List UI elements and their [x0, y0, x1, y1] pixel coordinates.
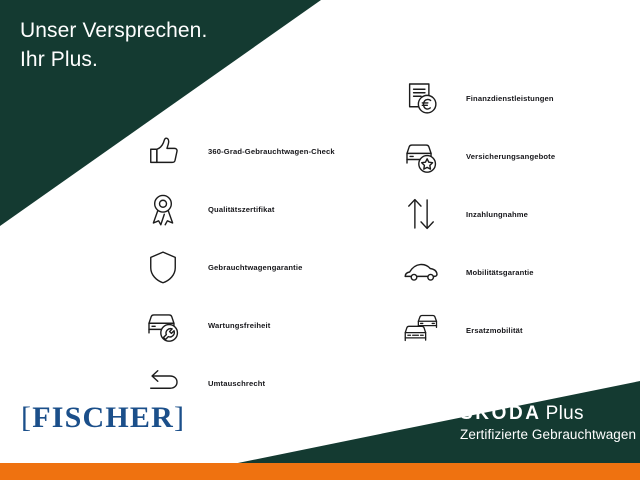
car-side-icon [398, 249, 444, 295]
feature-item-qualitaetszertifikat: Qualitätszertifikat [140, 186, 335, 232]
promo-banner: Unser Versprechen. Ihr Plus. 360-Grad-Ge… [0, 0, 640, 480]
logo-dealer-name: FISCHER [32, 401, 174, 434]
feature-label: Mobilitätsgarantie [444, 268, 534, 277]
two-cars-icon [398, 307, 444, 353]
feature-item-versicherungsangebote: Versicherungsangebote [398, 133, 555, 179]
dealer-logo-fischer: [FISCHER] [21, 401, 185, 435]
document-euro-icon [398, 75, 444, 121]
award-rosette-icon [140, 186, 186, 232]
feature-list-right: Finanzdienstleistungen Versicherungsange… [398, 75, 555, 359]
brand-logo-skoda-plus: ŠKODAPlus Zertifizierte Gebrauchtwagen [460, 404, 636, 442]
feature-label: Inzahlungnahme [444, 210, 528, 219]
brand-subtitle: Zertifizierte Gebrauchtwagen [460, 428, 636, 442]
feature-item-umtauschrecht: Umtauschrecht [140, 360, 335, 406]
feature-label: Finanzdienstleistungen [444, 94, 554, 103]
feature-item-gebrauchtwagengarantie: Gebrauchtwagengarantie [140, 244, 335, 290]
feature-item-inzahlungnahme: Inzahlungnahme [398, 191, 555, 237]
brand-mark-skoda: ŠKODA [460, 403, 542, 424]
feature-item-finanzdienstleistungen: Finanzdienstleistungen [398, 75, 555, 121]
up-down-arrows-icon [398, 191, 444, 237]
brand-mark-plus: Plus [546, 403, 584, 424]
logo-bracket-open: [ [21, 401, 32, 434]
feature-list-left: 360-Grad-Gebrauchtwagen-Check Qualitätsz… [140, 128, 335, 412]
feature-label: Gebrauchtwagengarantie [186, 263, 302, 272]
headline: Unser Versprechen. Ihr Plus. [20, 16, 207, 74]
feature-label: Versicherungsangebote [444, 152, 555, 161]
feature-label: Wartungsfreiheit [186, 321, 270, 330]
logo-bracket-close: ] [174, 401, 185, 434]
feature-label: Ersatzmobilität [444, 326, 523, 335]
thumbs-up-icon [140, 128, 186, 174]
feature-label: Umtauschrecht [186, 379, 265, 388]
feature-item-360-grad-check: 360-Grad-Gebrauchtwagen-Check [140, 128, 335, 174]
feature-item-wartungsfreiheit: Wartungsfreiheit [140, 302, 335, 348]
car-star-icon [398, 133, 444, 179]
car-wrench-icon [140, 302, 186, 348]
feature-item-ersatzmobilitaet: Ersatzmobilität [398, 307, 555, 353]
shield-icon [140, 244, 186, 290]
feature-label: 360-Grad-Gebrauchtwagen-Check [186, 147, 335, 156]
feature-item-mobilitaetsgarantie: Mobilitätsgarantie [398, 249, 555, 295]
u-turn-arrow-icon [140, 360, 186, 406]
orange-accent-bar [0, 463, 640, 480]
brand-logo-line-1: ŠKODAPlus [460, 404, 636, 423]
feature-label: Qualitätszertifikat [186, 205, 275, 214]
